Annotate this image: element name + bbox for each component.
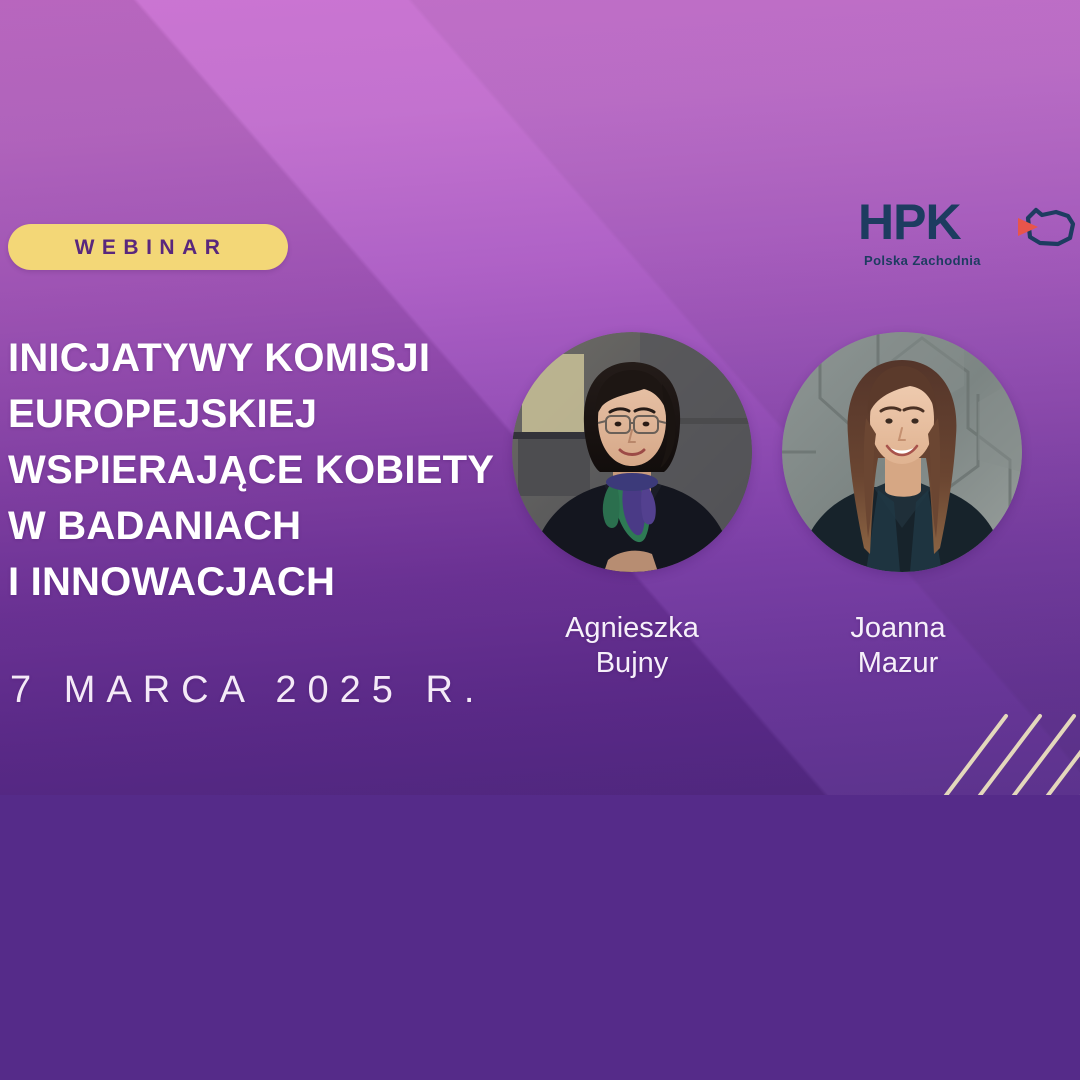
hpk-logo-wordmark: HPK — [858, 196, 961, 248]
diagonal-stripes-decoration — [940, 698, 1080, 795]
speaker-first-name-2: Joanna — [748, 611, 1048, 646]
webinar-badge-label: WEBINAR — [69, 237, 228, 258]
speaker-last-name-1: Bujny — [482, 646, 782, 681]
bottom-color-band — [0, 795, 1080, 1080]
speaker-card-1 — [512, 332, 752, 572]
poland-outline-icon — [1016, 204, 1080, 250]
title-line-1: INICJATYWY KOMISJI — [8, 330, 528, 386]
poster-artwork: WEBINAR INICJATYWY KOMISJI EUROPEJSKIEJ … — [0, 0, 1080, 795]
page-title: INICJATYWY KOMISJI EUROPEJSKIEJ WSPIERAJ… — [8, 330, 528, 610]
speaker-photo-joanna-mazur — [782, 332, 1022, 572]
hpk-logo: HPK Polska Zachodnia — [858, 196, 1080, 280]
speaker-card-2 — [782, 332, 1022, 572]
title-line-5: I INNOWACJACH — [8, 554, 528, 610]
speaker-name-1: Agnieszka Bujny — [482, 611, 782, 681]
title-line-4: W BADANIACH — [8, 498, 528, 554]
hpk-logo-subtitle: Polska Zachodnia — [864, 254, 981, 267]
speaker-name-2: Joanna Mazur — [748, 611, 1048, 681]
webinar-poster: WEBINAR INICJATYWY KOMISJI EUROPEJSKIEJ … — [0, 0, 1080, 1080]
speaker-last-name-2: Mazur — [748, 646, 1048, 681]
speaker-first-name-1: Agnieszka — [482, 611, 782, 646]
title-line-2: EUROPEJSKIEJ — [8, 386, 528, 442]
webinar-badge: WEBINAR — [8, 224, 288, 270]
event-date: 7 MARCA 2025 R. — [10, 671, 485, 709]
speaker-photo-agnieszka-bujny — [512, 332, 752, 572]
title-line-3: WSPIERAJĄCE KOBIETY — [8, 442, 528, 498]
